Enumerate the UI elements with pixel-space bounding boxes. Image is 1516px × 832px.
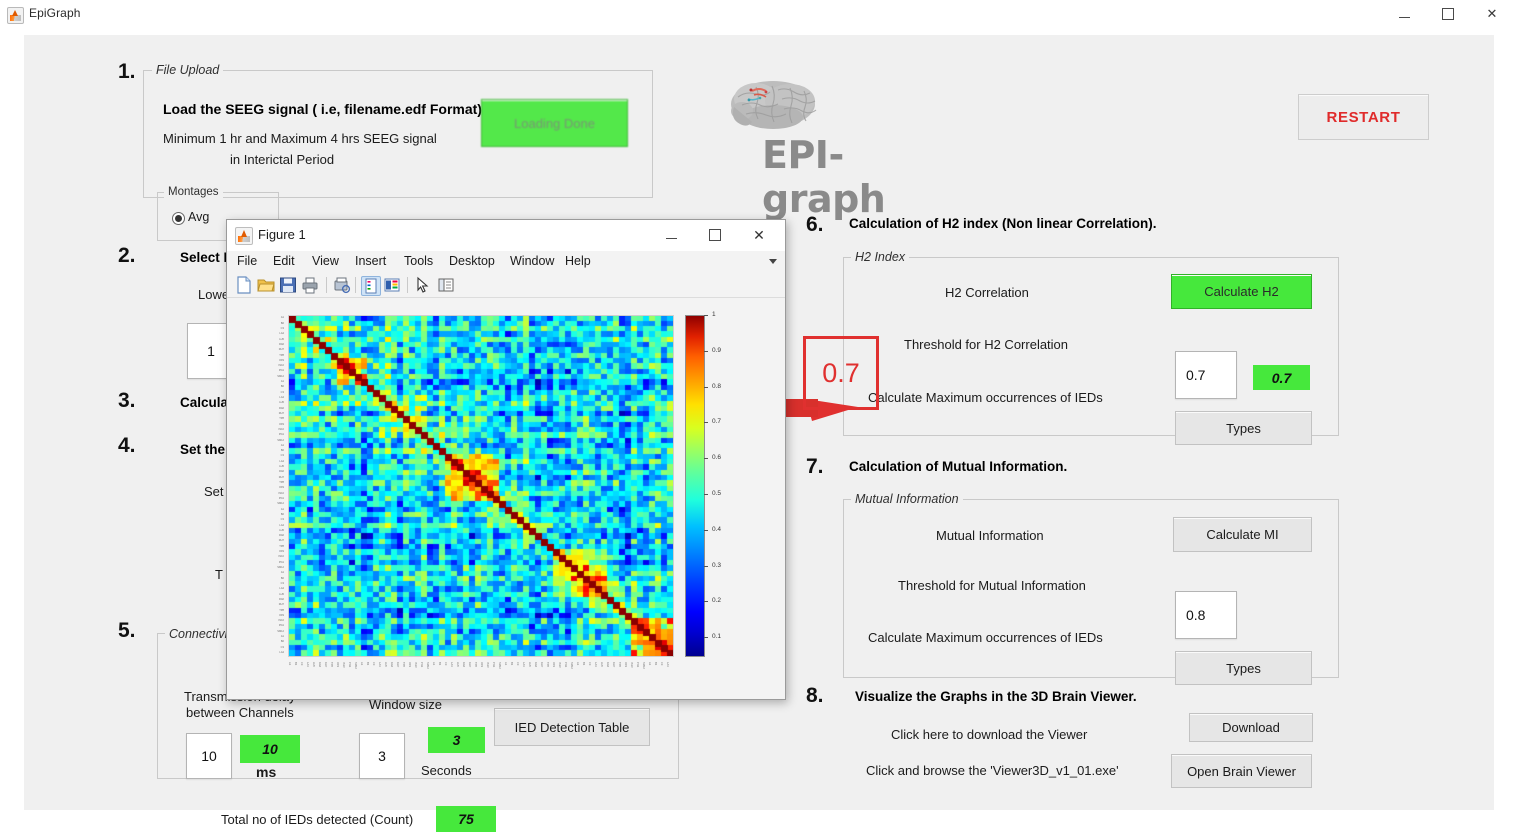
channel-tick-label: C3 (516, 662, 519, 665)
figure-titlebar: Figure 1 ✕ (227, 220, 785, 251)
colorbar-tick: 0.1 (712, 633, 721, 640)
channel-tick-label: B2 (281, 640, 284, 643)
channel-tick-label: C3 (588, 662, 591, 665)
channel-tick-label: OF9 (624, 662, 627, 667)
colorbar-tick: 1 (712, 311, 716, 318)
lower-frequency-label: Lowe (198, 287, 229, 302)
channel-tick-label: LH5 (456, 662, 459, 667)
channel-tick-label: C3 (281, 582, 284, 585)
channel-tick-label: B2 (438, 662, 441, 665)
mutual-information-label: Mutual Information (936, 528, 1044, 543)
channel-tick-label: RH7 (468, 662, 471, 667)
colorbar-tick-labels: 0.10.20.30.40.50.60.70.80.91 (704, 310, 744, 660)
channel-tick-label: LA4 (666, 662, 669, 667)
channel-tick-label: RA6 (534, 662, 537, 667)
figure-icon (235, 227, 253, 245)
channel-tick-label: A1 (648, 662, 651, 665)
channel-tick-label: OF9 (279, 486, 284, 489)
channel-tick-label: LA4 (279, 396, 284, 399)
channel-tick-label: SM12 (277, 502, 284, 505)
channel-tick-label: SM12 (277, 439, 284, 442)
channel-tick-label: RH7 (279, 476, 284, 479)
channel-tick-label: C3 (281, 454, 284, 457)
channel-tick-label: RA6 (606, 662, 609, 667)
figure-canvas: 0.10.20.30.40.50.60.70.80.91 A1B2C3LA4LH… (227, 298, 785, 698)
channel-tick-label: LA4 (306, 662, 309, 667)
channel-tick-label: A1 (288, 662, 291, 665)
channel-tick-label: SM12 (277, 566, 284, 569)
step-1-number: 1. (118, 60, 136, 84)
step-4-number: 4. (118, 434, 136, 458)
channel-tick-label: A1 (281, 635, 284, 638)
pointer-icon[interactable] (413, 276, 431, 294)
figure-window[interactable]: Figure 1 ✕ File Edit View Insert Tools D… (226, 219, 786, 700)
mi-types-button[interactable]: Types (1175, 651, 1312, 685)
channel-tick-label: RH7 (279, 348, 284, 351)
channel-tick-label: B2 (510, 662, 513, 665)
heatmap-y-axis-labels: A1B2C3LA4LH5RA6RH7TP8OF9IN10PI11SM12A1B2… (240, 315, 286, 655)
channel-tick-label: OF9 (336, 662, 339, 667)
channel-tick-label: OF9 (279, 423, 284, 426)
channel-tick-label: SM12 (354, 662, 357, 669)
total-ied-value: 75 (436, 806, 496, 832)
top-strip (0, 29, 1516, 35)
menu-file[interactable]: File (237, 254, 257, 268)
channel-tick-label: IN10 (279, 619, 284, 622)
channel-tick-label: OF9 (279, 550, 284, 553)
channel-tick-label: PI11 (636, 662, 639, 667)
channel-tick-label: LA4 (378, 662, 381, 667)
logo-text: EPI-graph (762, 133, 966, 221)
calculate-mi-button[interactable]: Calculate MI (1173, 517, 1312, 552)
mi-threshold-label: Threshold for Mutual Information (898, 578, 1086, 593)
channel-tick-label: PI11 (279, 369, 284, 372)
step-6-heading: Calculation of H2 index (Non linear Corr… (849, 216, 1157, 231)
app-icon (7, 7, 24, 24)
channel-tick-label: PI11 (279, 624, 284, 627)
channel-tick-label: A1 (281, 508, 284, 511)
app-logo: EPI-graph (716, 75, 966, 187)
mi-max-ied-label: Calculate Maximum occurrences of IEDs (868, 630, 1103, 645)
channel-tick-label: TP8 (279, 417, 284, 420)
channel-tick-label: LA4 (594, 662, 597, 667)
print-figure-icon[interactable] (301, 276, 319, 294)
menu-tools[interactable]: Tools (404, 254, 433, 268)
channel-tick-label: A1 (281, 444, 284, 447)
channel-tick-label: SM12 (642, 662, 645, 669)
channel-tick-label: A1 (281, 571, 284, 574)
print-preview-icon[interactable] (333, 276, 351, 294)
step-3-number: 3. (118, 389, 136, 413)
colorbar-tick: 0.2 (712, 597, 721, 604)
montage-avg-label: Avg (188, 210, 209, 224)
step-4-heading: Set the (180, 442, 225, 457)
transmission-delay-input[interactable]: 10 (186, 733, 232, 779)
menu-overflow-icon[interactable] (769, 259, 777, 264)
channel-tick-label: C3 (281, 391, 284, 394)
app-body: RESTART (0, 29, 1516, 822)
channel-tick-label: LA4 (279, 651, 284, 654)
channel-tick-label: TP8 (279, 481, 284, 484)
channel-tick-label: RA6 (279, 407, 284, 410)
channel-tick-label: TP8 (330, 662, 333, 667)
step-5-number: 5. (118, 619, 136, 643)
channel-tick-label: PI11 (279, 497, 284, 500)
mi-threshold-input[interactable]: 0.8 (1175, 591, 1237, 639)
channel-tick-label: A1 (281, 316, 284, 319)
heatmap-x-axis-labels: A1B2C3LA4LH5RA6RH7TP8OF9IN10PI11SM12A1B2… (288, 660, 672, 694)
insert-colorbar-icon[interactable] (383, 276, 401, 294)
channel-tick-label: SM12 (426, 662, 429, 669)
channel-tick-label: RA6 (279, 470, 284, 473)
channel-tick-label: A1 (432, 662, 435, 665)
channel-tick-label: RA6 (390, 662, 393, 667)
colorbar-tick: 0.6 (712, 454, 721, 461)
channel-tick-label: RA6 (318, 662, 321, 667)
open-file-icon[interactable] (257, 276, 275, 294)
restart-button[interactable]: RESTART (1298, 94, 1429, 140)
show-plot-tools-icon[interactable] (437, 276, 455, 294)
channel-tick-label: TP8 (402, 662, 405, 667)
channel-tick-label: IN10 (279, 364, 284, 367)
step-2-heading: Select F (180, 250, 232, 265)
open-viewer-label: Click and browse the 'Viewer3D_v1_01.exe… (866, 763, 1119, 778)
channel-tick-label: LA4 (279, 332, 284, 335)
upload-heading: Load the SEEG signal ( i.e, filename.edf… (163, 101, 482, 117)
upload-sub-line-2: in Interictal Period (230, 152, 334, 167)
channel-tick-label: C3 (281, 327, 284, 330)
channel-tick-label: IN10 (558, 662, 561, 667)
colorbar-tick: 0.3 (712, 562, 721, 569)
channel-tick-label: PI11 (564, 662, 567, 667)
menu-edit[interactable]: Edit (273, 254, 295, 268)
right-margin (1494, 29, 1516, 822)
menu-view[interactable]: View (312, 254, 339, 268)
channel-tick-label: RH7 (396, 662, 399, 667)
channel-tick-label: IN10 (279, 555, 284, 558)
colorbar-tick: 0.7 (712, 418, 721, 425)
channel-tick-label: B2 (366, 662, 369, 665)
channel-tick-label: RH7 (612, 662, 615, 667)
channel-tick-label: C3 (444, 662, 447, 665)
h2-threshold-label: Threshold for H2 Correlation (904, 337, 1068, 352)
loading-done-button[interactable]: Loading Done (481, 99, 628, 147)
channel-tick-label: C3 (660, 662, 663, 665)
channel-tick-label: LA4 (450, 662, 453, 667)
channel-tick-label: LH5 (312, 662, 315, 667)
channel-tick-label: RA6 (279, 534, 284, 537)
menu-insert[interactable]: Insert (355, 254, 386, 268)
channel-tick-label: C3 (300, 662, 303, 665)
channel-tick-label: RH7 (540, 662, 543, 667)
channel-tick-label: C3 (281, 646, 284, 649)
brain-3d-icon (726, 77, 822, 135)
figure-menubar: File Edit View Insert Tools Desktop Wind… (227, 251, 785, 273)
channel-tick-label: PI11 (420, 662, 423, 667)
channel-tick-label: A1 (360, 662, 363, 665)
colorbar-tick: 0.9 (712, 347, 721, 354)
channel-tick-label: IN10 (279, 428, 284, 431)
window-size-display: 3 (428, 727, 485, 753)
channel-tick-label: B2 (654, 662, 657, 665)
save-figure-icon[interactable] (279, 276, 297, 294)
montage-avg-radio[interactable] (172, 212, 185, 225)
channel-tick-label: B2 (582, 662, 585, 665)
channel-tick-label: IN10 (630, 662, 633, 667)
channel-tick-label: OF9 (279, 614, 284, 617)
connectivity-group-title: Connectivit (165, 627, 235, 641)
channel-tick-label: LH5 (279, 338, 284, 341)
total-ied-label: Total no of IEDs detected (Count) (221, 812, 413, 827)
calculate-h2-button[interactable]: Calculate H2 (1171, 274, 1312, 309)
channel-tick-label: OF9 (408, 662, 411, 667)
h2-index-group-title: H2 Index (851, 250, 909, 264)
channel-tick-label: B2 (281, 385, 284, 388)
channel-tick-label: A1 (576, 662, 579, 665)
channel-tick-label: TP8 (279, 609, 284, 612)
channel-tick-label: SM12 (498, 662, 501, 669)
channel-tick-label: IN10 (486, 662, 489, 667)
channel-tick-label: LH5 (528, 662, 531, 667)
heatmap-colorbar (685, 315, 705, 657)
h2-threshold-input[interactable]: 0.7 (1175, 351, 1237, 399)
step-7-heading: Calculation of Mutual Information. (849, 459, 1067, 474)
channel-tick-label: PI11 (348, 662, 351, 667)
channel-tick-label: PI11 (492, 662, 495, 667)
app-title: EpiGraph (29, 6, 81, 20)
threshold-callout-value: 0.7 (822, 358, 860, 389)
window-minimize-button[interactable] (1382, 0, 1426, 28)
channel-tick-label: RH7 (279, 412, 284, 415)
colorbar-tick: 0.5 (712, 490, 721, 497)
h2-threshold-display: 0.7 (1253, 365, 1310, 390)
channel-tick-label: LH5 (279, 465, 284, 468)
channel-tick-label: PI11 (279, 561, 284, 564)
transmission-delay-unit: ms (256, 764, 276, 780)
figure-title: Figure 1 (258, 227, 306, 242)
channel-tick-label: SM12 (277, 375, 284, 378)
threshold-callout: 0.7 (803, 336, 879, 410)
step-6-number: 6. (806, 213, 824, 237)
channel-tick-label: TP8 (618, 662, 621, 667)
channel-tick-label: LA4 (279, 460, 284, 463)
channel-tick-label: LH5 (279, 401, 284, 404)
left-margin (0, 29, 24, 822)
channel-tick-label: TP8 (279, 354, 284, 357)
figure-toolbar (227, 273, 785, 298)
window-size-input[interactable]: 3 (359, 733, 405, 779)
channel-tick-label: PI11 (279, 433, 284, 436)
menu-window[interactable]: Window (510, 254, 554, 268)
upload-sub-line-1: Minimum 1 hr and Maximum 4 hrs SEEG sign… (163, 131, 437, 146)
window-close-button[interactable]: ✕ (1470, 0, 1514, 28)
step-4-set-label: Set (204, 484, 224, 499)
channel-tick-label: C3 (372, 662, 375, 665)
h2-max-ied-label: Calculate Maximum occurrences of IEDs (868, 390, 1103, 405)
step-8-heading: Visualize the Graphs in the 3D Brain Vie… (855, 689, 1137, 704)
channel-tick-label: C3 (281, 518, 284, 521)
step-2-number: 2. (118, 244, 136, 268)
channel-tick-label: OF9 (279, 359, 284, 362)
channel-tick-label: RA6 (279, 343, 284, 346)
window-maximize-button[interactable] (1426, 0, 1470, 28)
colorbar-tick: 0.4 (712, 526, 721, 533)
file-upload-group-title: File Upload (152, 63, 223, 77)
step-4-t-label: T (215, 567, 223, 582)
figure-close-button[interactable]: ✕ (739, 220, 779, 250)
channel-tick-label: LH5 (279, 529, 284, 532)
channel-tick-label: SM12 (277, 630, 284, 633)
channel-tick-label: B2 (281, 577, 284, 580)
correlation-heatmap (288, 315, 674, 657)
download-button[interactable]: Download (1189, 713, 1313, 742)
channel-tick-label: RH7 (279, 539, 284, 542)
channel-tick-label: RA6 (462, 662, 465, 667)
h2-types-button[interactable]: Types (1175, 411, 1312, 445)
channel-tick-label: LH5 (279, 593, 284, 596)
channel-tick-label: TP8 (279, 545, 284, 548)
figure-minimize-button[interactable] (651, 220, 691, 250)
channel-tick-label: LA4 (279, 587, 284, 590)
channel-tick-label: OF9 (480, 662, 483, 667)
channel-tick-label: A1 (504, 662, 507, 665)
insert-legend-icon[interactable] (361, 276, 381, 296)
channel-tick-label: B2 (281, 449, 284, 452)
colorbar-tick: 0.8 (712, 383, 721, 390)
channel-tick-label: LH5 (600, 662, 603, 667)
channel-tick-label: RH7 (324, 662, 327, 667)
open-brain-viewer-button[interactable]: Open Brain Viewer (1171, 754, 1312, 788)
new-figure-icon[interactable] (235, 276, 253, 294)
channel-tick-label: LH5 (384, 662, 387, 667)
channel-tick-label: TP8 (546, 662, 549, 667)
channel-tick-label: IN10 (414, 662, 417, 667)
menu-desktop[interactable]: Desktop (449, 254, 495, 268)
channel-tick-label: TP8 (474, 662, 477, 667)
step-3-heading: Calcula (180, 395, 228, 410)
step-7-number: 7. (806, 455, 824, 479)
window-size-unit: Seconds (421, 763, 472, 778)
transmission-delay-label-line2: between Channels (186, 705, 294, 720)
channel-tick-label: IN10 (279, 492, 284, 495)
app-titlebar: EpiGraph ✕ (0, 0, 1516, 30)
montages-group-title: Montages (164, 186, 223, 198)
channel-tick-label: A1 (281, 380, 284, 383)
channel-tick-label: B2 (281, 322, 284, 325)
download-viewer-label: Click here to download the Viewer (891, 727, 1087, 742)
mutual-information-group-title: Mutual Information (851, 492, 963, 506)
transmission-delay-display: 10 (240, 735, 300, 763)
h2-correlation-label: H2 Correlation (945, 285, 1029, 300)
ied-detection-table-button[interactable]: IED Detection Table (494, 708, 650, 746)
channel-tick-label: B2 (294, 662, 297, 665)
step-8-number: 8. (806, 684, 824, 708)
figure-maximize-button[interactable] (695, 220, 735, 250)
channel-tick-label: LA4 (522, 662, 525, 667)
channel-tick-label: LA4 (279, 524, 284, 527)
channel-tick-label: OF9 (552, 662, 555, 667)
channel-tick-label: RH7 (279, 603, 284, 606)
menu-help[interactable]: Help (565, 254, 591, 268)
channel-tick-label: RA6 (279, 598, 284, 601)
channel-tick-label: IN10 (342, 662, 345, 667)
channel-tick-label: SM12 (570, 662, 573, 669)
channel-tick-label: B2 (281, 513, 284, 516)
